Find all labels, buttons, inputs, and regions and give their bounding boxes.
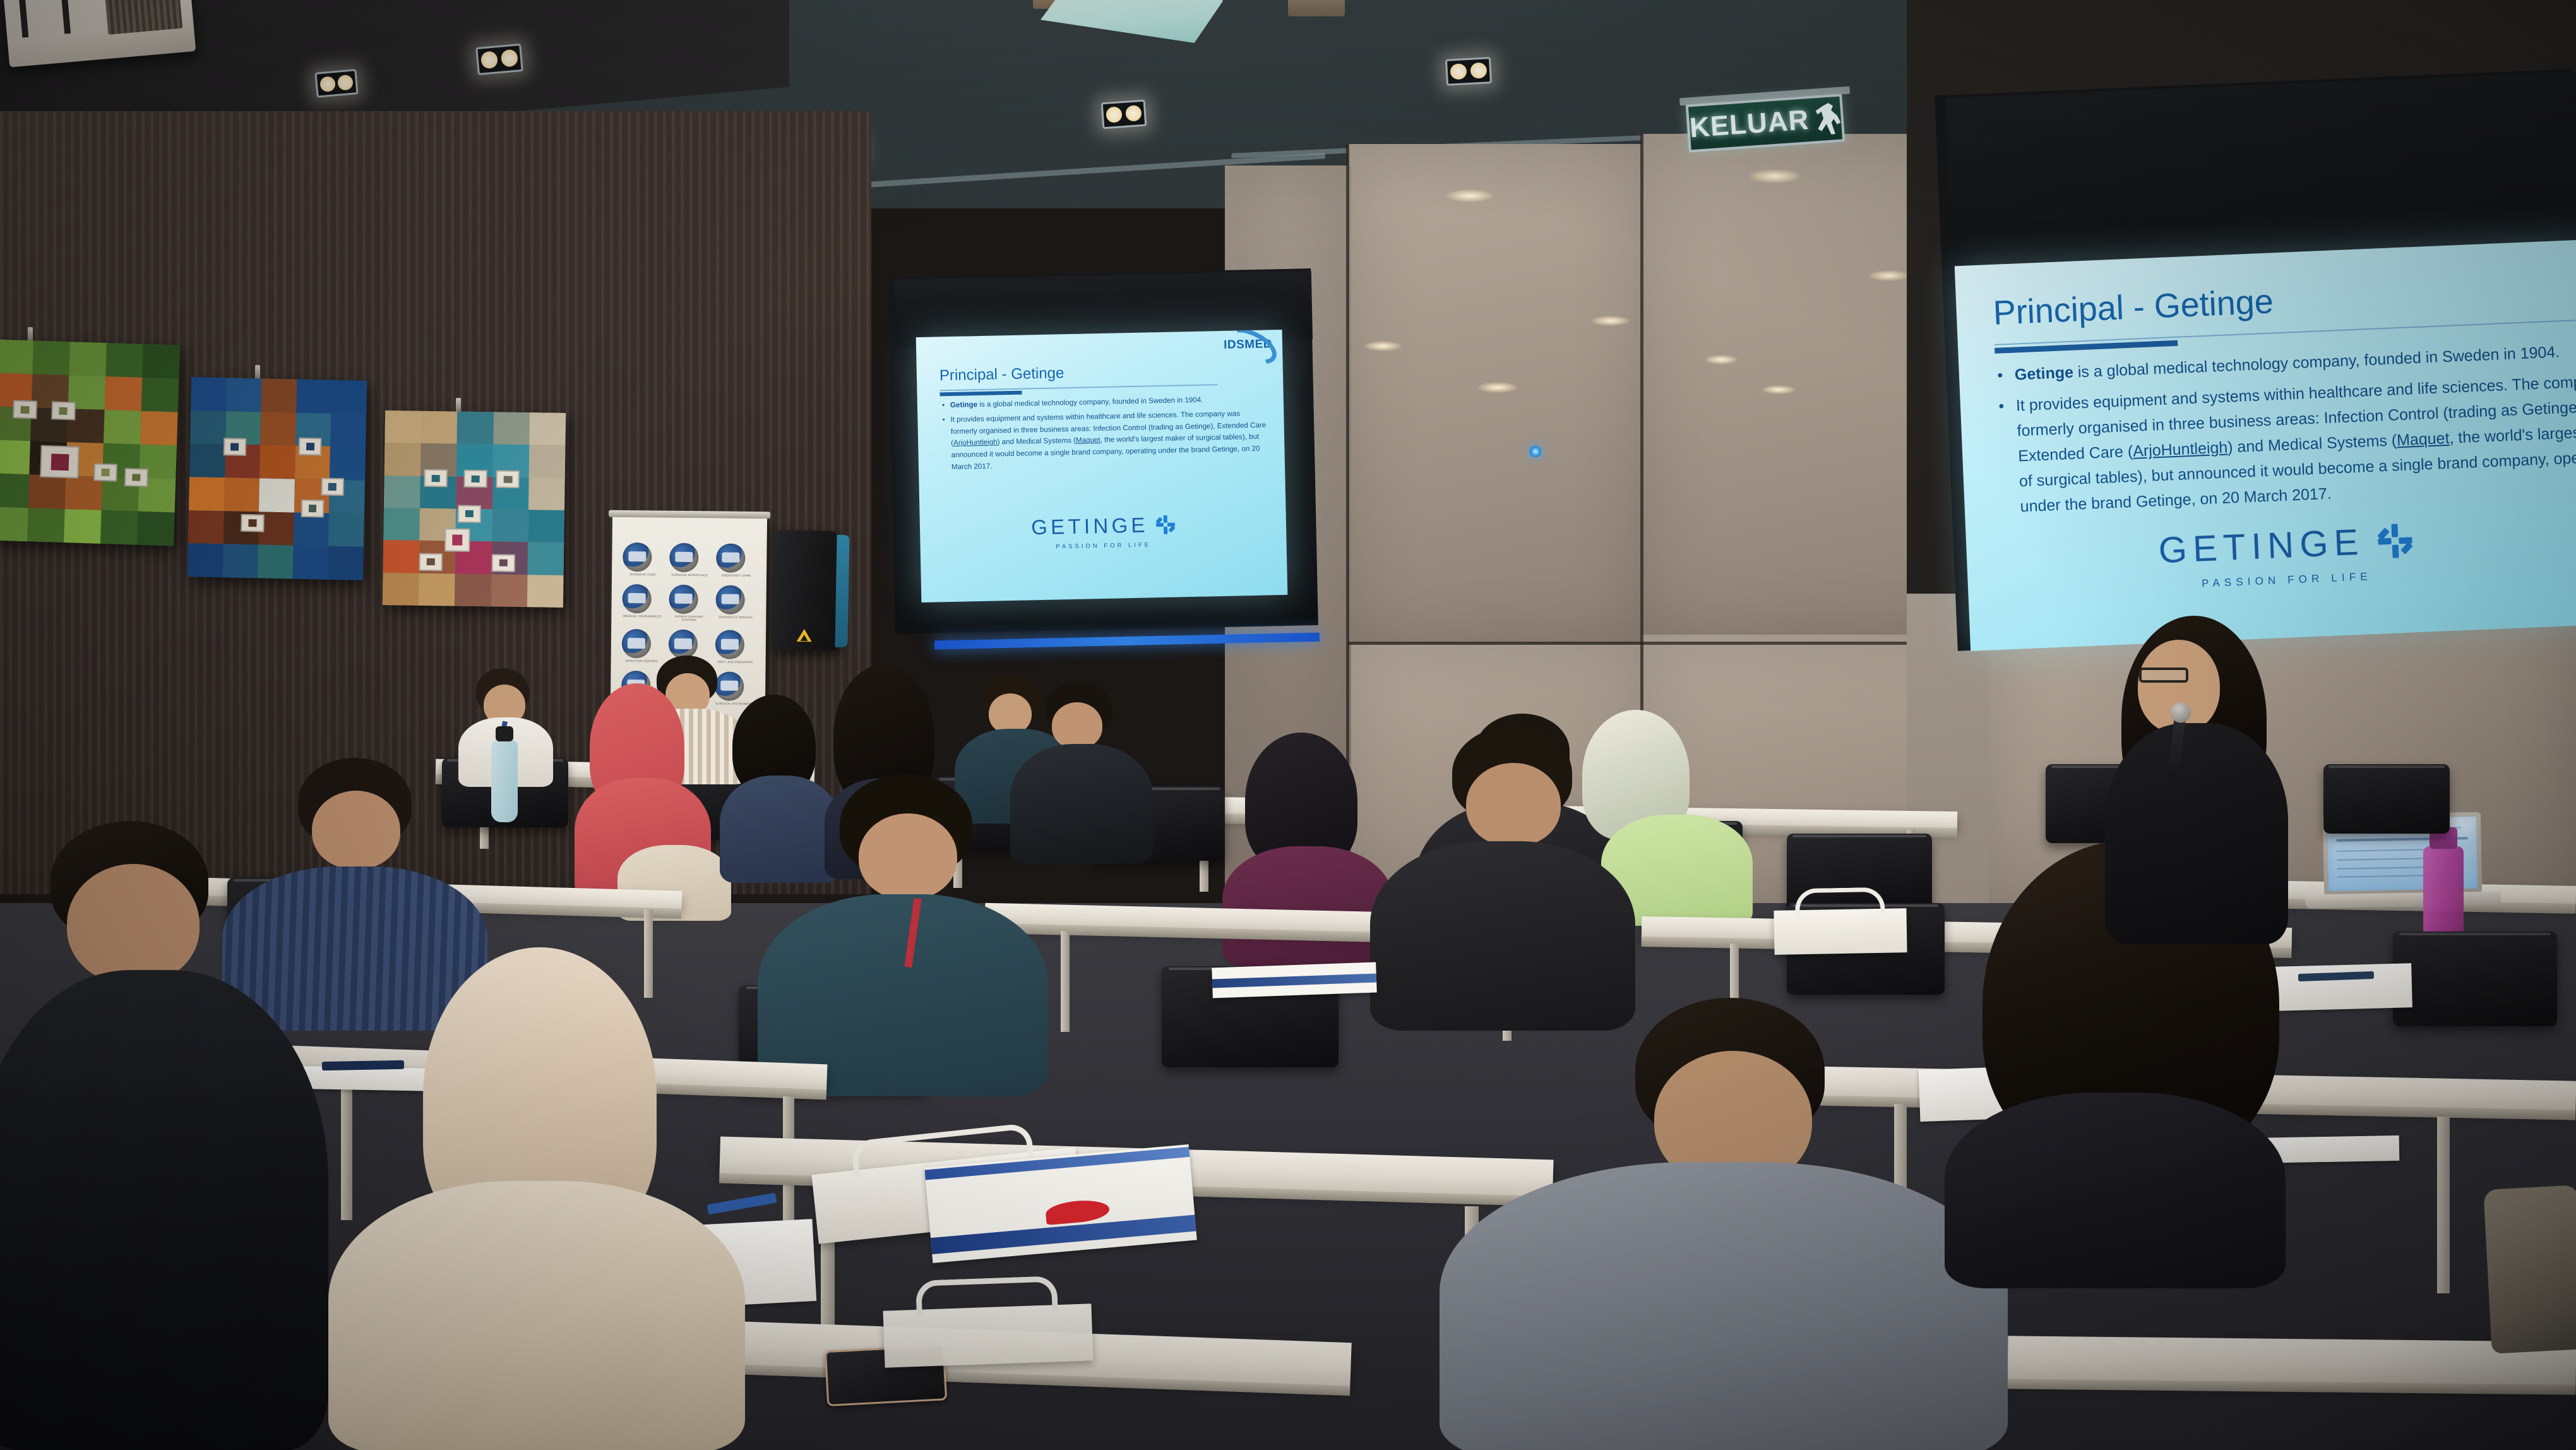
slide-bullet-2: It provides equipment and systems within… bbox=[950, 407, 1267, 473]
head bbox=[1052, 702, 1102, 749]
painting-accent-tile bbox=[496, 470, 520, 488]
torso bbox=[328, 1181, 745, 1450]
recessed-downlight bbox=[314, 69, 358, 98]
banner-caption: PATIENT SUPPORT SYSTEMS bbox=[669, 614, 709, 622]
speaker-side-panel bbox=[835, 535, 849, 647]
exit-sign-label: KELUAR bbox=[1689, 104, 1810, 144]
tote-bag bbox=[1774, 908, 1907, 955]
painting-accent-tile bbox=[13, 400, 37, 419]
painting-accent-tile bbox=[458, 505, 482, 522]
getinge-logo-block: GETINGE PASSION FOR LIFE bbox=[920, 510, 1287, 553]
banner-top-rail bbox=[609, 510, 770, 519]
table-row-front-bottom-right bbox=[2008, 1336, 2576, 1386]
painting-accent-tile bbox=[424, 469, 448, 487]
slide-bullet-2-text: It provides equipment and systems within… bbox=[950, 409, 1266, 471]
torso bbox=[1222, 846, 1393, 966]
right-slide-bullet-1-lead: Getinge bbox=[2014, 364, 2073, 384]
getinge-asterisk-icon bbox=[1155, 515, 1175, 535]
slide-title-rule-thin bbox=[939, 384, 1217, 391]
wall-indicator-led bbox=[1530, 446, 1541, 457]
recessed-downlight bbox=[1445, 57, 1492, 86]
painting-accent-tile bbox=[51, 402, 76, 421]
right-slide-title: Principal - Getinge bbox=[1993, 282, 2274, 333]
attendee-mid-teal-scrubs bbox=[758, 774, 1048, 1090]
painting-accent-tile bbox=[444, 528, 470, 552]
getinge-wordmark: GETINGE bbox=[1031, 513, 1148, 539]
banner-caption: EMERGENCY CARE bbox=[716, 573, 756, 577]
slide-bullet-1-text: is a global medical technology company, … bbox=[979, 396, 1203, 409]
projector-vent bbox=[104, 0, 182, 35]
chair-presenter-area bbox=[2323, 764, 2450, 834]
head bbox=[1466, 763, 1561, 846]
right-slide-bullet-2-text: It provides equipment and systems within… bbox=[2015, 371, 2576, 515]
torso bbox=[0, 970, 328, 1450]
right-slide-body: Getinge is a global medical technology c… bbox=[2014, 336, 2576, 525]
painting-blocks bbox=[0, 340, 180, 546]
torso bbox=[1945, 1093, 2286, 1288]
slide-title: Principal - Getinge bbox=[939, 364, 1064, 385]
getinge-tagline: PASSION FOR LIFE bbox=[921, 539, 1287, 553]
painting-accent-tile bbox=[40, 445, 80, 479]
presenter-torso bbox=[2105, 723, 2288, 944]
attendee-mid-black-jacket-right bbox=[1370, 726, 1635, 1023]
seminar-room-photo: KELUAR bbox=[0, 0, 2576, 1450]
right-projected-slide: Principal - Getinge Getinge is a global … bbox=[1955, 239, 2576, 651]
recessed-downlight bbox=[475, 44, 523, 75]
painting-accent-tile bbox=[124, 468, 149, 487]
brochure bbox=[1212, 962, 1377, 998]
painting-accent-tile bbox=[241, 514, 265, 532]
painting-accent-tile bbox=[93, 463, 118, 482]
getinge-wordmark-row: GETINGE bbox=[920, 510, 1287, 542]
slide-title-rule-thick bbox=[940, 391, 1022, 397]
brochure-band-navy bbox=[1212, 973, 1376, 988]
painting-accent-tile bbox=[463, 470, 487, 488]
presenter bbox=[2084, 616, 2292, 944]
right-getinge-logo-block: GETINGE PASSION FOR LIFE bbox=[1966, 511, 2576, 600]
panel-light-reflection bbox=[1446, 189, 1494, 202]
banner-caption: MEDICAL CONSUMABLES bbox=[622, 614, 662, 618]
banner-caption: INTENSIVE CARE bbox=[623, 573, 663, 577]
centre-projected-slide: IDSMED Principal - Getinge Getinge is a … bbox=[916, 330, 1288, 602]
panel-seam bbox=[1348, 642, 1986, 645]
brochure-band-red bbox=[1045, 1198, 1110, 1225]
painting-accent-tile bbox=[491, 554, 515, 572]
tote-handle bbox=[915, 1276, 1058, 1316]
panel-light-reflection bbox=[1869, 270, 1909, 281]
table-leg bbox=[1061, 931, 1070, 1032]
behringer-logo-icon bbox=[797, 629, 812, 642]
panel-light-reflection bbox=[1749, 169, 1801, 183]
painting-accent-tile bbox=[301, 499, 325, 517]
painting-accent-tile bbox=[224, 438, 247, 456]
tote-bag bbox=[883, 1303, 1094, 1367]
banner-icon-intensive-care bbox=[623, 542, 652, 572]
water-bottle-light-blue bbox=[491, 740, 518, 822]
right-slide-bullet-2: It provides equipment and systems within… bbox=[2015, 367, 2576, 519]
table-leg bbox=[2437, 1117, 2450, 1293]
right-slide-rule-thick bbox=[1995, 340, 2178, 354]
panel-light-reflection bbox=[1591, 316, 1630, 326]
right-getinge-wordmark: GETINGE bbox=[2157, 521, 2365, 572]
abstract-painting-blue bbox=[188, 377, 367, 580]
backpack bbox=[2483, 1185, 2576, 1353]
banner-caption: SURGICAL WORKPLACE bbox=[669, 573, 710, 577]
painting-accent-tile bbox=[321, 477, 344, 496]
ceiling-projector-body bbox=[1288, 0, 1345, 16]
head bbox=[859, 813, 957, 899]
banner-caption: DIAGNOSTIC IMAGING bbox=[715, 615, 756, 619]
panel-light-reflection bbox=[1762, 385, 1796, 394]
banner-icon-patient-support bbox=[669, 584, 698, 613]
banner-icon-orthopedic bbox=[669, 630, 698, 659]
chair bbox=[2393, 932, 2557, 1026]
panel-light-reflection bbox=[1477, 382, 1518, 393]
banner-icon-surgical-workplace bbox=[669, 543, 698, 572]
painting-accent-tile bbox=[299, 437, 322, 455]
attendee-back-coral-hijab bbox=[567, 683, 712, 892]
painting-accent-tile bbox=[419, 553, 443, 571]
banner-icon-medical-consumables bbox=[622, 584, 651, 613]
running-person-exit-icon bbox=[1814, 102, 1842, 136]
pa-speaker bbox=[770, 530, 839, 651]
tote-handle bbox=[1794, 887, 1885, 915]
head bbox=[67, 864, 200, 984]
wall-panel bbox=[1348, 144, 1645, 649]
panel-light-reflection bbox=[1705, 355, 1738, 364]
panel-light-reflection bbox=[1364, 341, 1402, 351]
right-getinge-asterisk-icon bbox=[2377, 523, 2412, 558]
projector-mount-arm bbox=[18, 0, 71, 38]
banner-icon-emergency-care bbox=[716, 543, 745, 572]
slide-body: Getinge is a global medical technology c… bbox=[950, 393, 1267, 476]
abstract-painting-tan-teal bbox=[383, 410, 566, 608]
attendee-front-cream-hijab bbox=[316, 947, 745, 1450]
abstract-painting-green bbox=[0, 340, 180, 546]
banner-icon-infection-control bbox=[622, 629, 651, 658]
bottle-cap bbox=[496, 726, 514, 741]
slide-bullet-1-lead: Getinge bbox=[950, 400, 977, 409]
presenter-glasses-icon bbox=[2139, 668, 2188, 683]
banner-icon-diagnostic-imaging bbox=[715, 585, 744, 614]
attendee-front-black-shirt-glasses bbox=[0, 821, 328, 1450]
recessed-downlight bbox=[1101, 100, 1147, 129]
